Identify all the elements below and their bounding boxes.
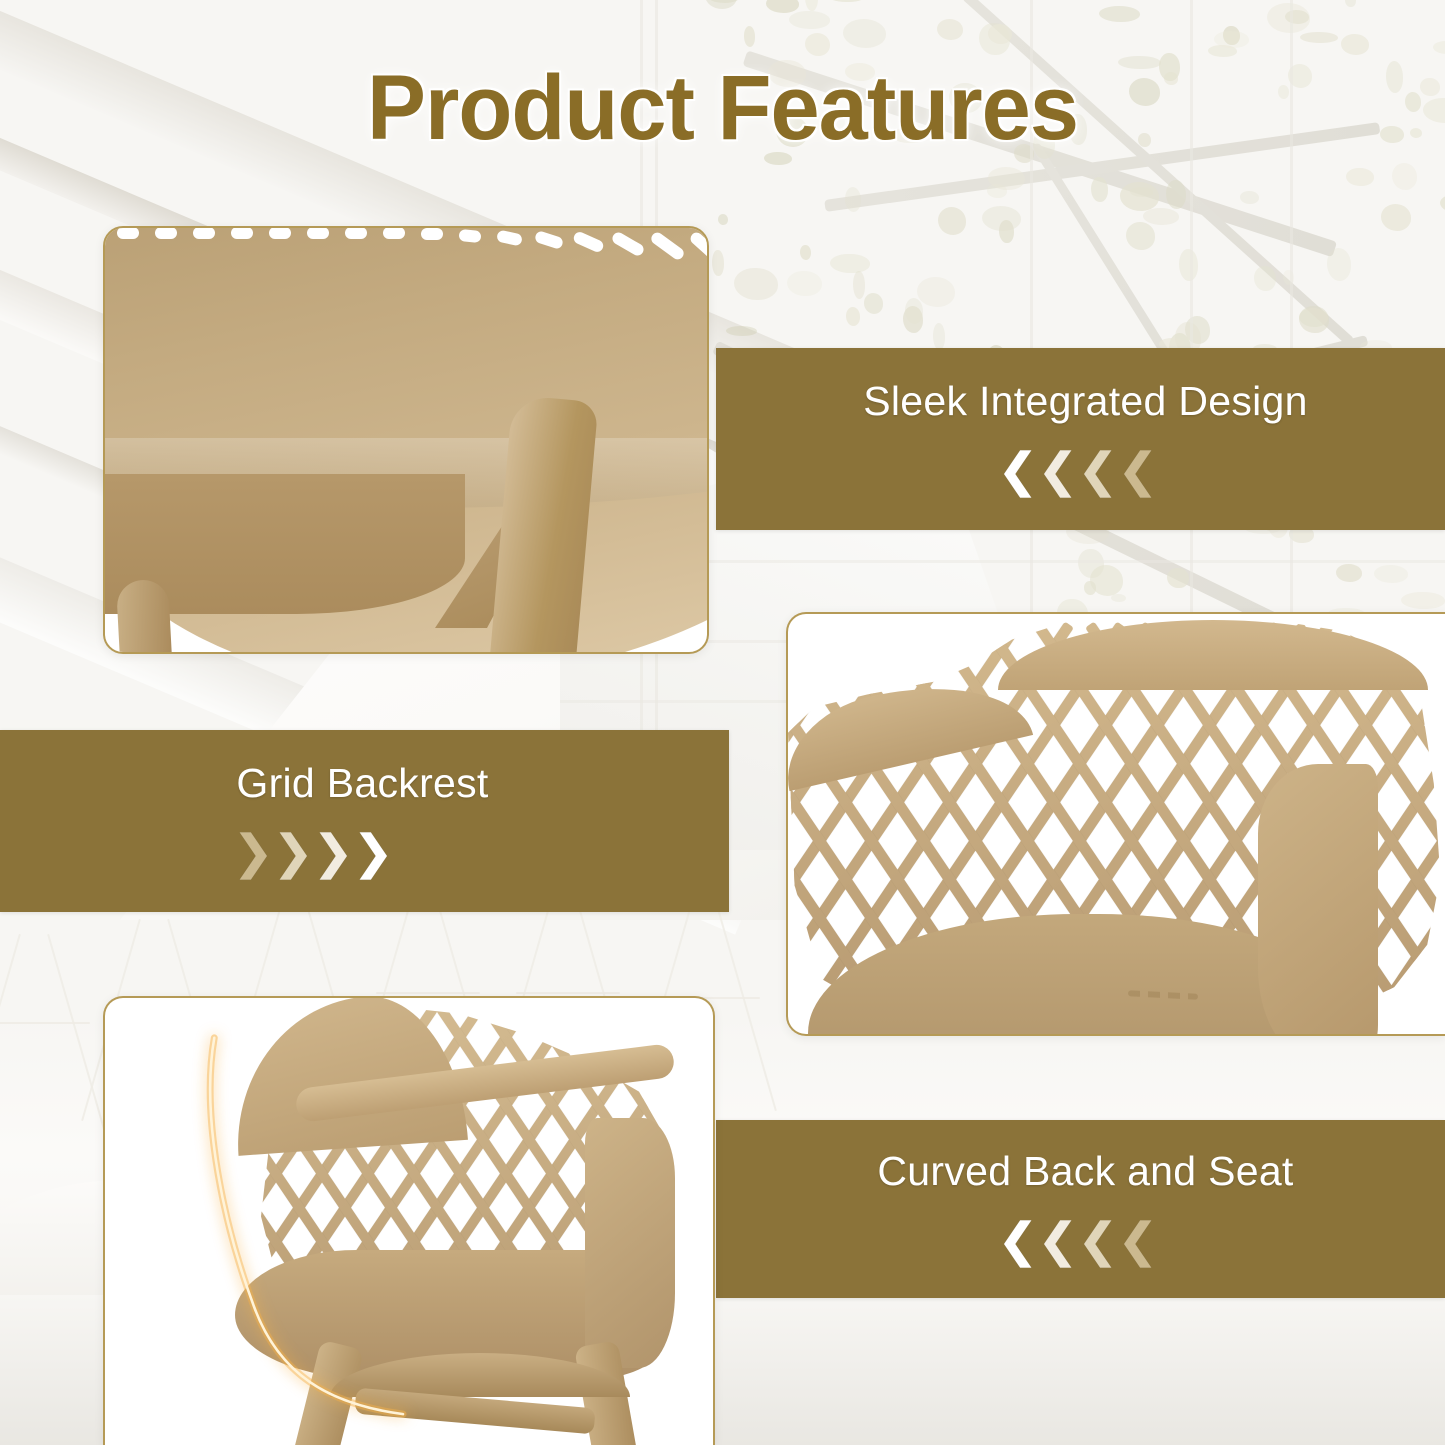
feature-band-sleek-integrated-design: Sleek Integrated Design bbox=[716, 348, 1445, 530]
chevron-icon bbox=[1003, 447, 1041, 501]
feature-label: Grid Backrest bbox=[236, 760, 488, 807]
feature-label: Curved Back and Seat bbox=[877, 1148, 1293, 1195]
chevron-icon bbox=[270, 829, 308, 883]
chevron-group-right-icon bbox=[230, 829, 390, 883]
chevron-group-left-icon bbox=[1003, 1217, 1163, 1271]
chevron-icon bbox=[230, 829, 268, 883]
chevron-icon bbox=[1123, 1217, 1161, 1271]
feature-label: Sleek Integrated Design bbox=[863, 378, 1308, 425]
panel-image bbox=[105, 998, 713, 1445]
chair-grid-backrest bbox=[788, 614, 1445, 1034]
curve-highlight-icon bbox=[105, 998, 713, 1445]
panel-image bbox=[105, 228, 707, 652]
feature-image-grid-backrest bbox=[786, 612, 1445, 1036]
feature-band-grid-backrest: Grid Backrest bbox=[0, 730, 729, 912]
feature-image-curved-back-and-seat bbox=[103, 996, 715, 1445]
chevron-icon bbox=[1123, 447, 1161, 501]
chevron-icon bbox=[350, 829, 388, 883]
chevron-icon bbox=[1083, 1217, 1121, 1271]
chevron-icon bbox=[1043, 447, 1081, 501]
chevron-icon bbox=[1083, 447, 1121, 501]
chevron-icon bbox=[1003, 1217, 1041, 1271]
chevron-group-left-icon bbox=[1003, 447, 1163, 501]
feature-band-curved-back-and-seat: Curved Back and Seat bbox=[716, 1120, 1445, 1298]
chevron-icon bbox=[1043, 1217, 1081, 1271]
chevron-icon bbox=[310, 829, 348, 883]
feature-image-sleek-integrated-design bbox=[103, 226, 709, 654]
page-title: Product Features bbox=[29, 56, 1416, 161]
panel-image bbox=[788, 614, 1445, 1034]
